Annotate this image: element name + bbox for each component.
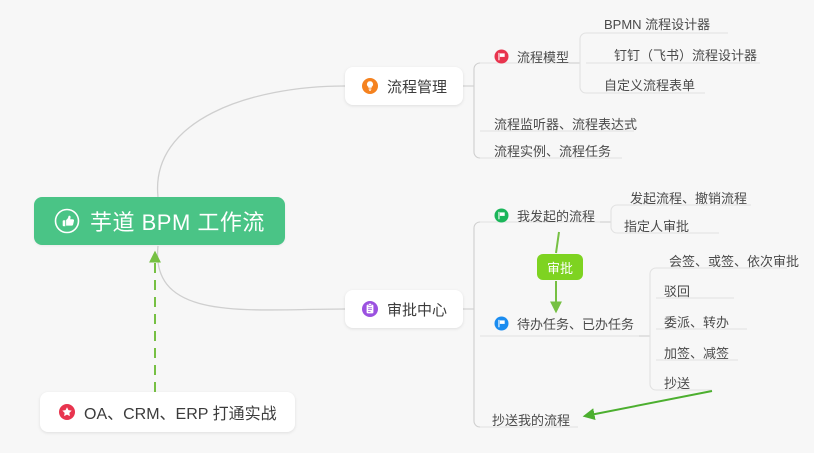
root-node[interactable]: 芋道 BPM 工作流 xyxy=(34,197,285,245)
mindmap-canvas: 芋道 BPM 工作流 流程管理 流程模型 BPMN 流程设计器 钉钉（飞书 xyxy=(0,0,814,453)
flag-icon xyxy=(494,316,509,331)
leaf-label-custom-form: 自定义流程表单 xyxy=(604,75,695,94)
node-label-cc-my-process: 抄送我的流程 xyxy=(492,410,570,429)
node-label-todo-done-tasks: 待办任务、已办任务 xyxy=(517,314,634,333)
link-process-management-spine xyxy=(474,63,480,158)
leaf-label-reject: 驳回 xyxy=(664,281,690,300)
link-approval-center-spine xyxy=(474,222,480,427)
node-label-process-instance: 流程实例、流程任务 xyxy=(494,141,611,160)
branch-node-approval-center[interactable]: 审批中心 xyxy=(345,290,463,328)
flag-icon xyxy=(494,208,509,223)
branch-node-process-management[interactable]: 流程管理 xyxy=(345,67,463,105)
leaf-label-bpmn-designer: BPMN 流程设计器 xyxy=(604,14,710,33)
node-process-listener[interactable]: 流程监听器、流程表达式 xyxy=(490,110,641,136)
node-my-started-process[interactable]: 我发起的流程 xyxy=(490,202,599,228)
star-icon xyxy=(58,403,76,421)
leaf-add-remove-sign[interactable]: 加签、减签 xyxy=(660,339,733,365)
leaf-label-dingtalk-designer: 钉钉（飞书）流程设计器 xyxy=(614,45,757,64)
node-label-process-model: 流程模型 xyxy=(517,47,569,66)
leaf-delegate-transfer[interactable]: 委派、转办 xyxy=(660,308,733,334)
branch-label-process-management: 流程管理 xyxy=(387,76,447,97)
leaf-label-countersign: 会签、或签、依次审批 xyxy=(669,251,799,270)
leaf-reject[interactable]: 驳回 xyxy=(660,277,694,303)
link-process-model-spine xyxy=(580,33,586,93)
link-todo-tasks-spine xyxy=(650,268,656,390)
node-label-my-started-process: 我发起的流程 xyxy=(517,206,595,225)
leaf-dingtalk-designer[interactable]: 钉钉（飞书）流程设计器 xyxy=(610,41,761,67)
leaf-bpmn-designer[interactable]: BPMN 流程设计器 xyxy=(600,10,714,36)
lightbulb-icon xyxy=(361,77,379,95)
link-root-to-process-management xyxy=(158,86,345,197)
clipboard-icon xyxy=(361,300,379,318)
callout-node-integration[interactable]: OA、CRM、ERP 打通实战 xyxy=(40,392,295,432)
leaf-label-assignee-approval: 指定人审批 xyxy=(624,216,689,235)
leaf-assignee-approval[interactable]: 指定人审批 xyxy=(620,212,693,238)
branch-label-approval-center: 审批中心 xyxy=(387,299,447,320)
arrow-started-to-approval-tag xyxy=(556,232,559,253)
leaf-start-cancel-process[interactable]: 发起流程、撤销流程 xyxy=(626,184,751,210)
callout-label-integration: OA、CRM、ERP 打通实战 xyxy=(84,400,277,424)
thumbs-up-icon xyxy=(54,208,80,234)
node-process-model[interactable]: 流程模型 xyxy=(490,43,573,69)
leaf-label-add-remove-sign: 加签、减签 xyxy=(664,343,729,362)
node-process-instance[interactable]: 流程实例、流程任务 xyxy=(490,137,615,163)
node-label-process-listener: 流程监听器、流程表达式 xyxy=(494,114,637,133)
flag-icon xyxy=(494,49,509,64)
node-todo-done-tasks[interactable]: 待办任务、已办任务 xyxy=(490,310,638,336)
leaf-custom-form[interactable]: 自定义流程表单 xyxy=(600,71,699,97)
leaf-label-cc: 抄送 xyxy=(664,373,690,392)
node-cc-my-process[interactable]: 抄送我的流程 xyxy=(488,406,574,432)
leaf-cc[interactable]: 抄送 xyxy=(660,369,694,395)
root-label: 芋道 BPM 工作流 xyxy=(90,205,265,237)
leaf-label-start-cancel-process: 发起流程、撤销流程 xyxy=(630,188,747,207)
annotation-approval-tag-label: 审批 xyxy=(547,258,573,277)
link-my-started-spine xyxy=(611,205,617,233)
annotation-approval-tag[interactable]: 审批 xyxy=(537,254,583,280)
leaf-countersign[interactable]: 会签、或签、依次审批 xyxy=(665,247,803,273)
leaf-label-delegate-transfer: 委派、转办 xyxy=(664,312,729,331)
link-root-to-approval-center xyxy=(158,246,345,310)
